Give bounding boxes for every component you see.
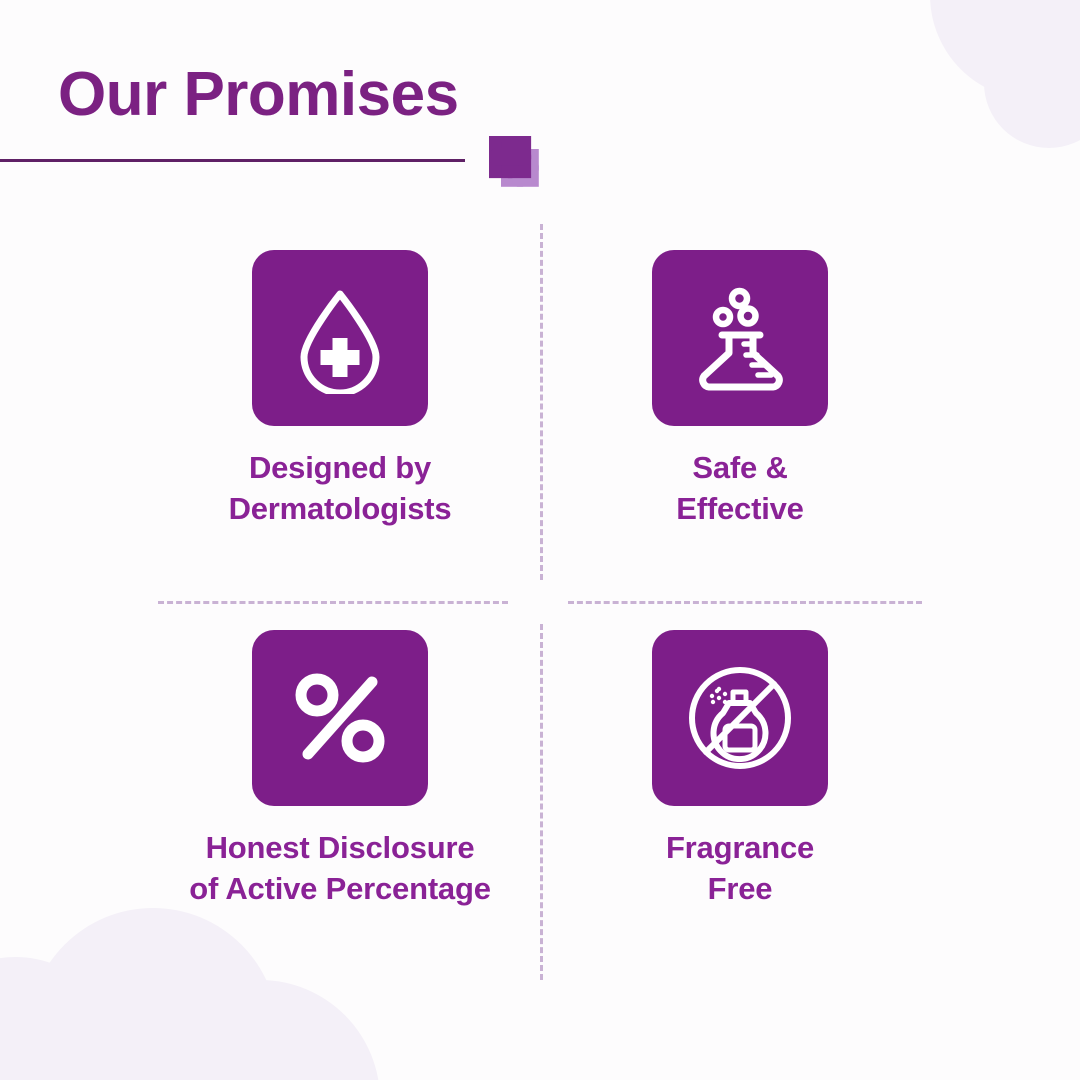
plus-accent-icon: [489, 136, 543, 190]
promise-icon-tile: [252, 250, 428, 426]
decorative-blob-top-right-1: [950, 0, 1080, 88]
decorative-blob-bottom-left-2: [0, 957, 123, 1080]
page-title: Our Promises: [0, 62, 560, 127]
promise-icon-tile: [252, 630, 428, 806]
promise-icon-tile: [652, 630, 828, 806]
flask-bubbles-icon: [684, 282, 796, 394]
promise-label: Safe & Effective: [500, 448, 980, 529]
header: Our Promises: [0, 62, 560, 127]
horizontal-divider-left: [158, 601, 508, 604]
promise-icon-tile: [652, 250, 828, 426]
droplet-plus-icon: [284, 282, 396, 394]
horizontal-divider-right: [568, 601, 922, 604]
decorative-blob-top-right-3: [930, 0, 1080, 100]
title-underline: [0, 159, 465, 162]
decorative-blob-bottom-left-4: [0, 950, 270, 1080]
no-fragrance-bottle-icon: [684, 662, 796, 774]
decorative-blob-bottom-left-1: [28, 908, 278, 1080]
decorative-blob-bottom-left-3: [140, 980, 380, 1080]
plus-accent-back-shape: [489, 136, 531, 178]
percent-icon: [284, 662, 396, 774]
promise-item: Fragrance Free: [500, 630, 980, 909]
promises-infographic: Our Promises Designed by Dermatologists: [0, 0, 1080, 1080]
promise-label: Fragrance Free: [500, 828, 980, 909]
decorative-blob-top-right-2: [984, 18, 1080, 148]
promise-item: Safe & Effective: [500, 250, 980, 529]
